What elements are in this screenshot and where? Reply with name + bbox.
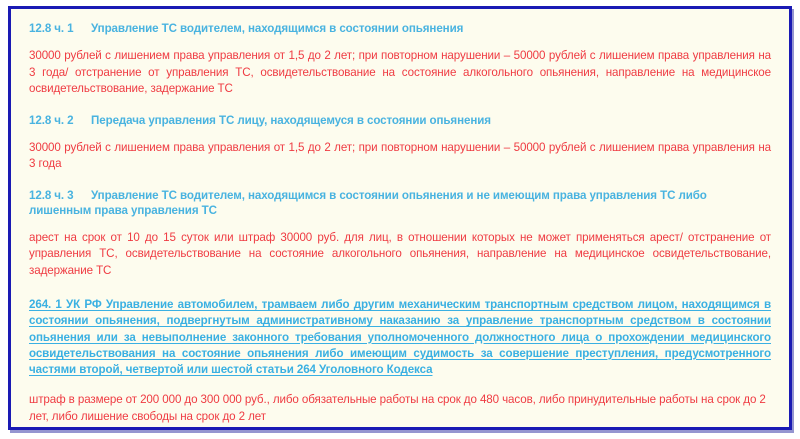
section-code-12-8-3: 12.8 ч. 3 [29, 188, 91, 203]
section-body-12-8-2: 30000 рублей с лишением права управления… [29, 140, 771, 173]
section-heading-12-8-3: 12.8 ч. 3Управление ТС водителем, находя… [29, 188, 771, 218]
document-frame: 12.8 ч. 1Управление ТС водителем, находя… [8, 6, 792, 430]
section-title-12-8-3: Управление ТС водителем, находящимся в с… [29, 189, 707, 217]
section-body-12-8-3: арест на срок от 10 до 15 суток или штра… [29, 230, 771, 280]
section-heading-12-8-1: 12.8 ч. 1Управление ТС водителем, находя… [29, 21, 771, 36]
section-code-12-8-2: 12.8 ч. 2 [29, 113, 91, 128]
section-code-12-8-1: 12.8 ч. 1 [29, 21, 91, 36]
section-body-12-8-1: 30000 рублей с лишением права управления… [29, 48, 771, 98]
criminal-section-heading-264-1[interactable]: 264. 1 УК РФ Управление автомобилем, тра… [29, 297, 771, 378]
section-title-12-8-1: Управление ТС водителем, находящимся в с… [91, 22, 463, 35]
document-content: 12.8 ч. 1Управление ТС водителем, находя… [11, 9, 789, 427]
section-heading-12-8-2: 12.8 ч. 2Передача управления ТС лицу, на… [29, 113, 771, 128]
screenshot-page: 12.8 ч. 1Управление ТС водителем, находя… [0, 0, 800, 439]
criminal-section-body-264-1: штраф в размере от 200 000 до 300 000 ру… [29, 392, 771, 425]
section-title-12-8-2: Передача управления ТС лицу, находящемус… [91, 114, 491, 127]
